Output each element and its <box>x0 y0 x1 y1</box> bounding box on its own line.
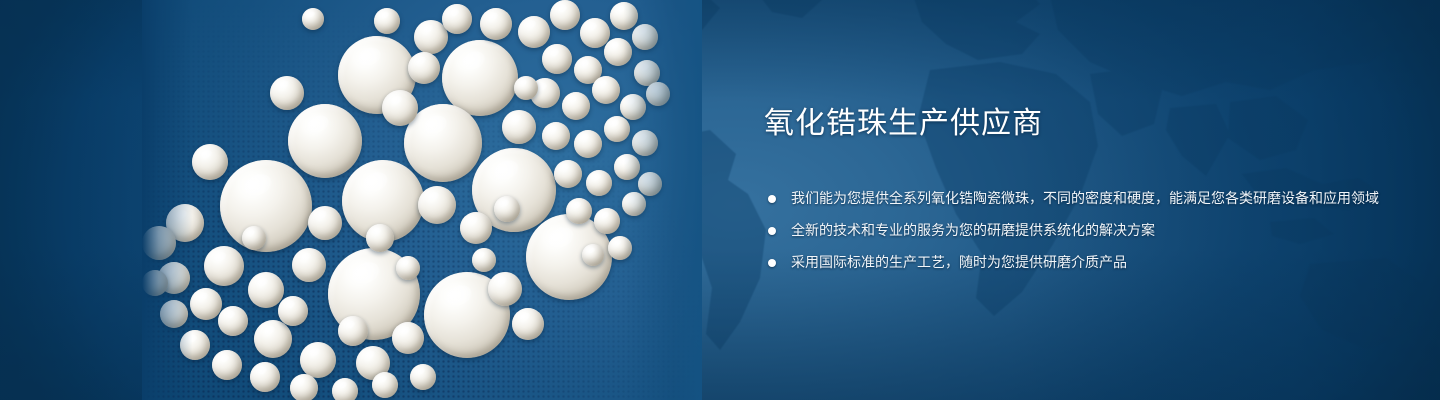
banner-content: 氧化锆珠生产供应商 我们能为您提供全系列氧化锆陶瓷微珠，不同的密度和硬度，能满足… <box>764 106 1384 275</box>
list-item: 全新的技术和专业的服务为您的研磨提供系统化的解决方案 <box>764 218 1384 243</box>
product-photo <box>142 0 702 400</box>
list-item: 我们能为您提供全系列氧化锆陶瓷微珠，不同的密度和硬度，能满足您各类研磨设备和应用… <box>764 186 1384 211</box>
bullet-text: 采用国际标准的生产工艺，随时为您提供研磨介质产品 <box>791 254 1127 270</box>
list-item: 采用国际标准的生产工艺，随时为您提供研磨介质产品 <box>764 250 1384 275</box>
bullet-text: 全新的技术和专业的服务为您的研磨提供系统化的解决方案 <box>791 222 1155 238</box>
bullet-dot-icon <box>768 195 776 203</box>
promo-banner: 氧化锆珠生产供应商 我们能为您提供全系列氧化锆陶瓷微珠，不同的密度和硬度，能满足… <box>0 0 1440 400</box>
bullet-dot-icon <box>768 259 776 267</box>
banner-headline: 氧化锆珠生产供应商 <box>764 106 1384 142</box>
bullet-dot-icon <box>768 227 776 235</box>
zirconia-bead-cluster <box>142 0 702 400</box>
banner-bullet-list: 我们能为您提供全系列氧化锆陶瓷微珠，不同的密度和硬度，能满足您各类研磨设备和应用… <box>764 186 1384 275</box>
bullet-text: 我们能为您提供全系列氧化锆陶瓷微珠，不同的密度和硬度，能满足您各类研磨设备和应用… <box>791 190 1379 206</box>
